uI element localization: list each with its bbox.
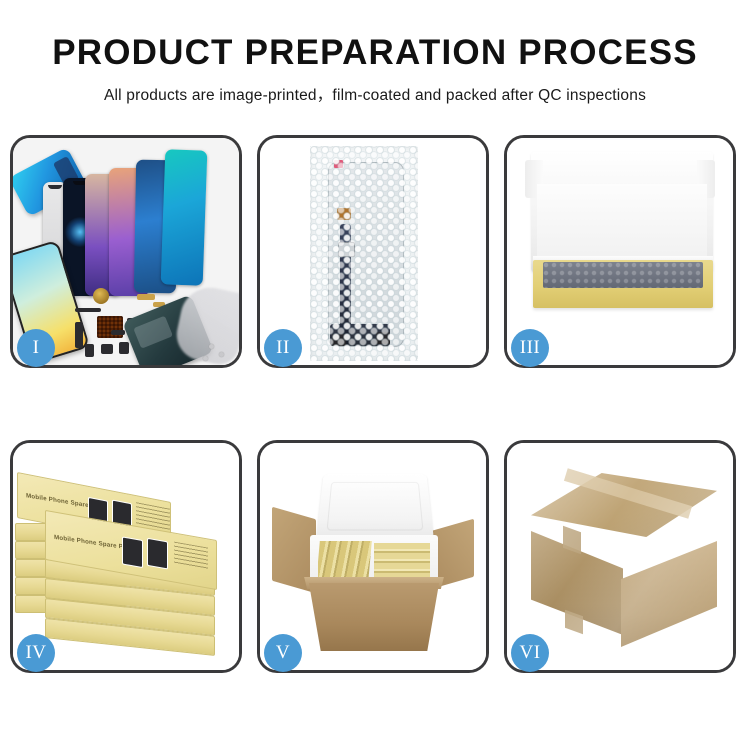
- step-numeral: I: [33, 337, 40, 359]
- step-numeral: II: [276, 337, 290, 359]
- page-subtitle: All products are image-printed，film-coat…: [0, 83, 750, 105]
- screw-icon: [219, 352, 224, 357]
- step-2-image: [260, 138, 486, 365]
- page-header: PRODUCT PREPARATION PROCESS All products…: [0, 0, 750, 105]
- screw-icon: [209, 344, 214, 349]
- vibrator-motor-part: [93, 288, 109, 304]
- step-4-image: Mobile Phone Spare Parts Mobile Phone Sp…: [13, 443, 239, 670]
- process-step-panel-3: III: [504, 135, 736, 368]
- bubble-wrap-bag: [310, 146, 418, 361]
- antenna-part: [111, 330, 125, 335]
- page-title: PRODUCT PREPARATION PROCESS: [0, 34, 750, 72]
- step-6-image: [507, 443, 733, 670]
- carton-body: [300, 583, 448, 651]
- process-step-panel-2: II: [257, 135, 489, 368]
- sim-tray-part: [85, 344, 94, 357]
- retail-box-group-left: [318, 541, 372, 583]
- notch-icon: [48, 185, 62, 189]
- step-badge-6: VI: [511, 634, 549, 672]
- grey-bubble-wrap-insert: [543, 262, 703, 288]
- packed-retail-boxes: [318, 541, 430, 583]
- foam-lid: [316, 474, 434, 540]
- process-step-panel-1: I: [10, 135, 242, 368]
- step-badge-5: V: [264, 634, 302, 672]
- bubble-texture-overlay: [310, 146, 418, 361]
- step-5-image: [260, 443, 486, 670]
- process-step-panel-5: V: [257, 440, 489, 673]
- screw-icon: [203, 356, 208, 361]
- step-1-image: [13, 138, 239, 365]
- earpiece-mesh-part: [75, 308, 101, 312]
- step-badge-4: IV: [17, 634, 55, 672]
- camera-module-part: [119, 342, 129, 354]
- step-badge-1: I: [17, 329, 55, 367]
- product-preparation-page: PRODUCT PREPARATION PROCESS All products…: [0, 0, 750, 750]
- phone-screen-teal: [161, 149, 208, 285]
- step-badge-2: II: [264, 329, 302, 367]
- button-flex-part: [137, 294, 155, 300]
- process-step-panel-6: VI: [504, 440, 736, 673]
- side-flex-part: [75, 322, 83, 348]
- step-numeral: VI: [519, 642, 540, 664]
- step-numeral: III: [520, 337, 540, 359]
- step-badge-3: III: [511, 329, 549, 367]
- step-numeral: V: [276, 642, 290, 664]
- box-spec-lines: [174, 542, 208, 570]
- process-step-panel-4: Mobile Phone Spare Parts Mobile Phone Sp…: [10, 440, 242, 673]
- step-3-image: [507, 138, 733, 365]
- step-numeral: IV: [25, 642, 46, 664]
- process-steps-grid: I II: [10, 135, 740, 673]
- retail-box-stack: Mobile Phone Spare Parts Mobile Phone Sp…: [15, 467, 239, 657]
- box-product-photo: [147, 538, 168, 570]
- speaker-part: [101, 344, 113, 354]
- box-product-photo: [122, 536, 143, 568]
